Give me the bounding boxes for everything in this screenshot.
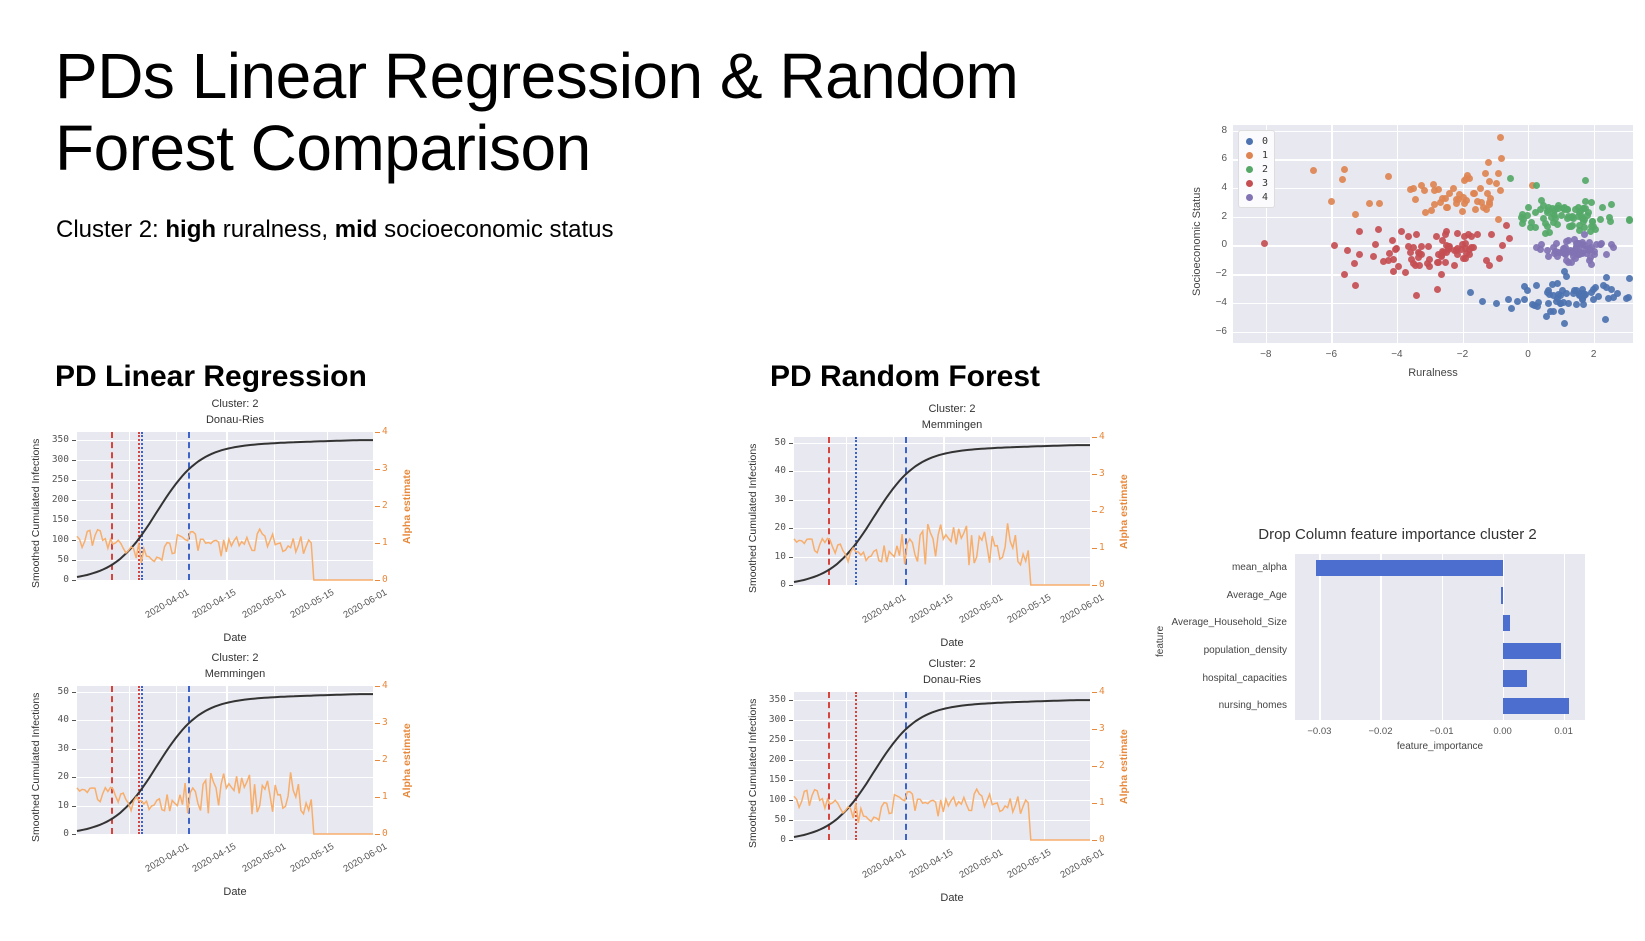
bar: [1316, 560, 1502, 576]
scatter-point: [1356, 228, 1363, 235]
scatter-point: [1356, 251, 1363, 258]
scatter-point: [1261, 240, 1268, 247]
scatter-point: [1544, 289, 1551, 296]
grid-line-horizontal: [1233, 131, 1633, 132]
chart-lr-memmingen: Cluster: 2Memmingen01020304050012342020-…: [35, 652, 435, 892]
scatter-point: [1506, 235, 1513, 242]
scatter-point: [1428, 207, 1435, 214]
scatter-point: [1533, 282, 1540, 289]
scatter-point: [1508, 305, 1515, 312]
legend-label: 4: [1262, 192, 1268, 203]
bar: [1503, 670, 1527, 686]
subtitle: Cluster 2: high ruralness, mid socioecon…: [56, 216, 614, 244]
scatter-point: [1310, 167, 1317, 174]
scatter-point: [1418, 182, 1425, 189]
scatter-point: [1402, 269, 1409, 276]
bar-xtick-label: −0.01: [1420, 726, 1464, 737]
bar: [1501, 587, 1502, 603]
chart-rf-memmingen: Cluster: 2Memmingen01020304050012342020-…: [752, 403, 1152, 643]
scatter-point: [1588, 199, 1595, 206]
scatter-point: [1545, 300, 1552, 307]
scatter-point: [1474, 198, 1481, 205]
legend-color-swatch: [1246, 194, 1253, 201]
scatter-point: [1453, 247, 1460, 254]
scatter-point: [1451, 262, 1458, 269]
scatter-point: [1412, 196, 1419, 203]
subtitle-bold-high: high: [165, 216, 216, 243]
series-overlay: [752, 658, 1152, 898]
grid-line-vertical: [1503, 554, 1504, 720]
legend-item[interactable]: 4: [1243, 190, 1268, 204]
chart-rf-donau-ries: Cluster: 2Donau-Ries05010015020025030035…: [752, 658, 1152, 898]
scatter-point: [1486, 201, 1493, 208]
legend-label: 1: [1262, 150, 1268, 161]
scatter-point: [1376, 200, 1383, 207]
cumulated-infections-line: [77, 440, 373, 577]
scatter-point: [1552, 215, 1559, 222]
scatter-point: [1328, 198, 1335, 205]
scatter-point: [1459, 241, 1466, 248]
scatter-point: [1495, 170, 1502, 177]
scatter-point: [1439, 237, 1446, 244]
scatter-ytick-label: −6: [1203, 326, 1227, 337]
bar-xtick-label: 0.00: [1481, 726, 1525, 737]
scatter-point: [1431, 187, 1438, 194]
scatter-point: [1561, 320, 1568, 327]
scatter-point: [1467, 289, 1474, 296]
subtitle-bold-mid: mid: [335, 216, 378, 243]
grid-line-vertical: [1380, 554, 1381, 720]
scatter-point: [1533, 244, 1540, 251]
scatter-point: [1592, 226, 1599, 233]
scatter-point: [1563, 290, 1570, 297]
alpha-estimate-line: [77, 772, 373, 834]
scatter-point: [1341, 166, 1348, 173]
bar-category-label: hospital_capacities: [1150, 673, 1287, 684]
scatter-point: [1561, 246, 1568, 253]
scatter-point: [1443, 249, 1450, 256]
series-overlay: [35, 652, 435, 892]
scatter-point: [1407, 249, 1414, 256]
scatter-point: [1410, 185, 1417, 192]
scatter-point: [1439, 195, 1446, 202]
scatter-point: [1366, 200, 1373, 207]
legend-label: 3: [1262, 178, 1268, 189]
scatter-point: [1341, 271, 1348, 278]
scatter-point: [1390, 268, 1397, 275]
bar-xtick-label: 0.01: [1542, 726, 1586, 737]
section-header-linear-regression: PD Linear Regression: [55, 360, 367, 394]
scatter-point: [1485, 159, 1492, 166]
scatter-point: [1426, 263, 1433, 270]
legend-item[interactable]: 1: [1243, 148, 1268, 162]
bar: [1503, 643, 1561, 659]
legend-item[interactable]: 3: [1243, 176, 1268, 190]
bar-category-label: population_density: [1150, 645, 1287, 656]
legend-item[interactable]: 0: [1243, 134, 1268, 148]
scatter-xtick-label: −4: [1385, 349, 1409, 360]
scatter-point: [1442, 259, 1449, 266]
scatter-xtick-label: 2: [1582, 349, 1606, 360]
scatter-ytick-label: 6: [1203, 153, 1227, 164]
scatter-point: [1488, 231, 1495, 238]
scatter-point: [1625, 294, 1632, 301]
scatter-point: [1438, 271, 1445, 278]
series-overlay: [35, 398, 435, 638]
bar-category-label: nursing_homes: [1150, 700, 1287, 711]
scatter-point: [1565, 213, 1572, 220]
page-title: PDs Linear Regression & Random Forest Co…: [55, 40, 1155, 185]
grid-line-horizontal: [1233, 274, 1633, 275]
subtitle-mid: ruralness,: [216, 216, 335, 243]
scatter-point: [1505, 296, 1512, 303]
scatter-point: [1351, 260, 1358, 267]
cumulated-infections-line: [77, 694, 373, 831]
scatter-point: [1471, 190, 1478, 197]
bar-xtick-label: −0.03: [1297, 726, 1341, 737]
chart-lr-donau-ries: Cluster: 2Donau-Ries05010015020025030035…: [35, 398, 435, 638]
series-overlay: [752, 403, 1152, 643]
scatter-point: [1545, 204, 1552, 211]
subtitle-suffix: socioeconomic status: [377, 216, 613, 243]
scatter-point: [1390, 256, 1397, 263]
scatter-point: [1563, 273, 1570, 280]
scatter-point: [1573, 240, 1580, 247]
scatter-point: [1603, 251, 1610, 258]
cumulated-infections-line: [794, 700, 1090, 837]
grid-line-vertical: [1564, 554, 1565, 720]
scatter-point: [1599, 204, 1606, 211]
scatter-point: [1614, 290, 1621, 297]
scatter-point: [1626, 216, 1633, 223]
scatter-xtick-label: −6: [1319, 349, 1343, 360]
subtitle-prefix: Cluster 2:: [56, 216, 165, 243]
legend-color-swatch: [1246, 180, 1253, 187]
scatter-ytick-label: 2: [1203, 211, 1227, 222]
scatter-xtick-label: 0: [1516, 349, 1540, 360]
legend-color-swatch: [1246, 152, 1253, 159]
legend-label: 2: [1262, 164, 1268, 175]
scatter-point: [1413, 231, 1420, 238]
scatter-ytick-label: −2: [1203, 268, 1227, 279]
scatter-point: [1463, 250, 1470, 257]
scatter-point: [1479, 298, 1486, 305]
grid-line-vertical: [1331, 125, 1332, 343]
scatter-point: [1565, 237, 1572, 244]
legend-color-swatch: [1246, 138, 1253, 145]
bar-xtick-label: −0.02: [1358, 726, 1402, 737]
scatter-point: [1608, 286, 1615, 293]
scatter-ytick-label: 0: [1203, 239, 1227, 250]
bar: [1503, 615, 1510, 631]
scatter-xaxis-label: Ruralness: [1393, 367, 1473, 379]
bar-yaxis-label: feature: [1155, 626, 1166, 657]
scatter-point: [1570, 290, 1577, 297]
alpha-estimate-line: [794, 789, 1090, 840]
bar-category-label: Average_Household_Size: [1150, 617, 1287, 628]
scatter-point: [1496, 255, 1503, 262]
scatter-point: [1533, 182, 1540, 189]
scatter-ytick-label: 4: [1203, 182, 1227, 193]
scatter-point: [1497, 134, 1504, 141]
scatter-xtick-label: −2: [1451, 349, 1475, 360]
cumulated-infections-line: [794, 445, 1090, 582]
scatter-point: [1543, 313, 1550, 320]
scatter-point: [1597, 241, 1604, 248]
scatter-point: [1477, 185, 1484, 192]
grid-line-horizontal: [1233, 159, 1633, 160]
slide-root: PDs Linear Regression & Random Forest Co…: [0, 0, 1645, 941]
scatter-point: [1558, 308, 1565, 315]
scatter-point: [1578, 213, 1585, 220]
bar-xaxis-label: feature_importance: [1295, 741, 1585, 752]
scatter-ytick-label: −4: [1203, 297, 1227, 308]
scatter-point: [1597, 216, 1604, 223]
feature-importance-figure: Drop Column feature importance cluster 2…: [1150, 518, 1645, 748]
bar-chart-title: Drop Column feature importance cluster 2: [1150, 526, 1645, 543]
scatter-yaxis-label: Socioeconomic Status: [1191, 187, 1203, 296]
scatter-point: [1569, 222, 1576, 229]
bar: [1503, 698, 1569, 714]
scatter-legend[interactable]: 01234: [1238, 130, 1275, 208]
legend-color-swatch: [1246, 166, 1253, 173]
legend-label: 0: [1262, 136, 1268, 147]
scatter-point: [1443, 204, 1450, 211]
scatter-point: [1385, 173, 1392, 180]
bar-category-label: Average_Age: [1150, 590, 1287, 601]
scatter-ytick-label: 8: [1203, 125, 1227, 136]
grid-line-vertical: [1319, 554, 1320, 720]
scatter-point: [1459, 208, 1466, 215]
scatter-point: [1602, 316, 1609, 323]
bar-plot-area: [1295, 554, 1585, 720]
cluster-scatter-figure: −8−6−4−20286420−2−4−6RuralnessSocioecono…: [1165, 115, 1645, 390]
scatter-point: [1603, 274, 1610, 281]
alpha-estimate-line: [794, 523, 1090, 585]
scatter-point: [1493, 180, 1500, 187]
alpha-estimate-line: [77, 529, 373, 580]
scatter-point: [1507, 175, 1514, 182]
grid-line-horizontal: [1233, 332, 1633, 333]
legend-item[interactable]: 2: [1243, 162, 1268, 176]
grid-line-vertical: [1594, 125, 1595, 343]
scatter-point: [1461, 200, 1468, 207]
scatter-xtick-label: −8: [1254, 349, 1278, 360]
section-header-random-forest: PD Random Forest: [770, 360, 1040, 394]
bar-category-label: mean_alpha: [1150, 562, 1287, 573]
grid-line-vertical: [1442, 554, 1443, 720]
grid-line-vertical: [1528, 125, 1529, 343]
